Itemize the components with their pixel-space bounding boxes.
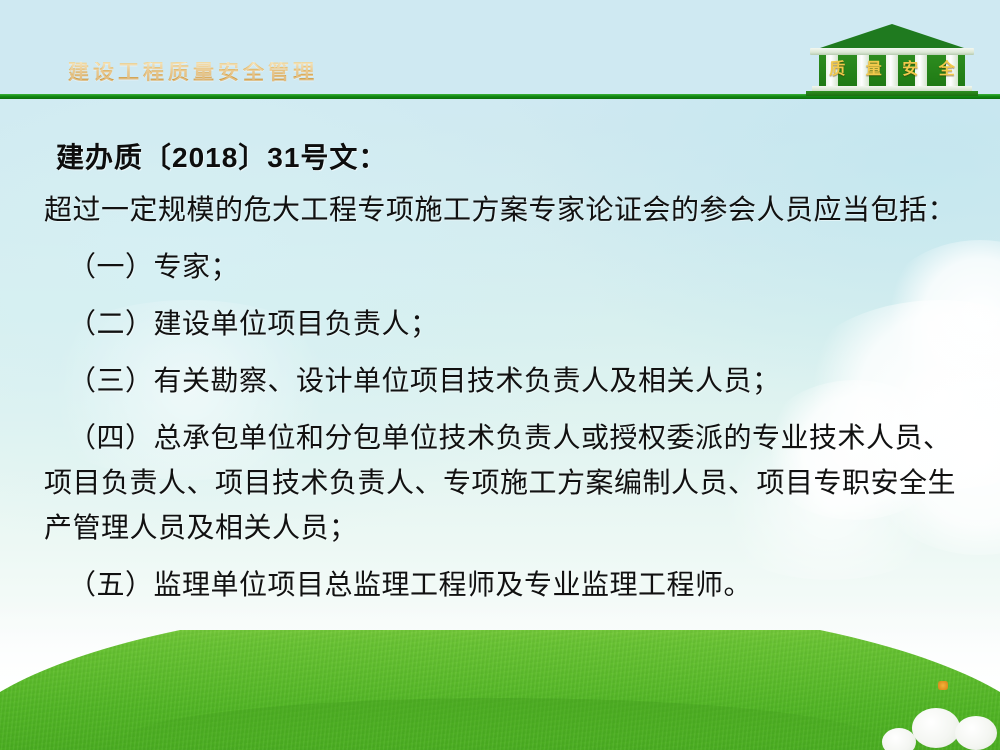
sheep-icon: [882, 728, 916, 750]
list-item-1: （一）专家；: [44, 245, 956, 290]
document-number-title: 建办质〔2018〕31号文：: [56, 136, 956, 180]
temple-cornice-icon: [810, 48, 974, 55]
slide-canvas: 建设工程质量安全管理 质 量 安 全 建办质〔2018〕31号文： 超过一定规模…: [0, 0, 1000, 750]
page-title: 建设工程质量安全管理: [68, 62, 318, 83]
temple-roof-icon: [814, 24, 970, 50]
sheep-icon: [955, 716, 997, 750]
spacer: [44, 292, 956, 302]
list-item-2: （二）建设单位项目负责人；: [44, 302, 956, 347]
spacer: [44, 349, 956, 359]
temple-column-icon: [857, 55, 869, 86]
flower-icon: [938, 681, 948, 690]
temple-column-icon: [915, 55, 927, 86]
quality-safety-temple-logo: 质 量 安 全: [806, 24, 978, 98]
temple-column-icon: [826, 55, 838, 86]
lead-paragraph: 超过一定规模的危大工程专项施工方案专家论证会的参会人员应当包括：: [44, 188, 956, 233]
slide-header: 建设工程质量安全管理 质 量 安 全: [0, 0, 1000, 100]
list-item-5: （五）监理单位项目总监理工程师及专业监理工程师。: [44, 563, 956, 608]
temple-column-icon: [946, 55, 958, 86]
temple-column-icon: [886, 55, 898, 86]
temple-base-icon: [806, 91, 978, 96]
meadow-foreground: [0, 630, 1000, 750]
list-item-4: （四）总承包单位和分包单位技术负责人或授权委派的专业技术人员、项目负责人、项目技…: [44, 416, 956, 551]
sheep-icon: [912, 708, 960, 748]
spacer: [44, 553, 956, 563]
list-item-3: （三）有关勘察、设计单位项目技术负责人及相关人员；: [44, 359, 956, 404]
slide-content: 建办质〔2018〕31号文： 超过一定规模的危大工程专项施工方案专家论证会的参会…: [44, 136, 956, 610]
spacer: [44, 406, 956, 416]
spacer: [44, 235, 956, 245]
